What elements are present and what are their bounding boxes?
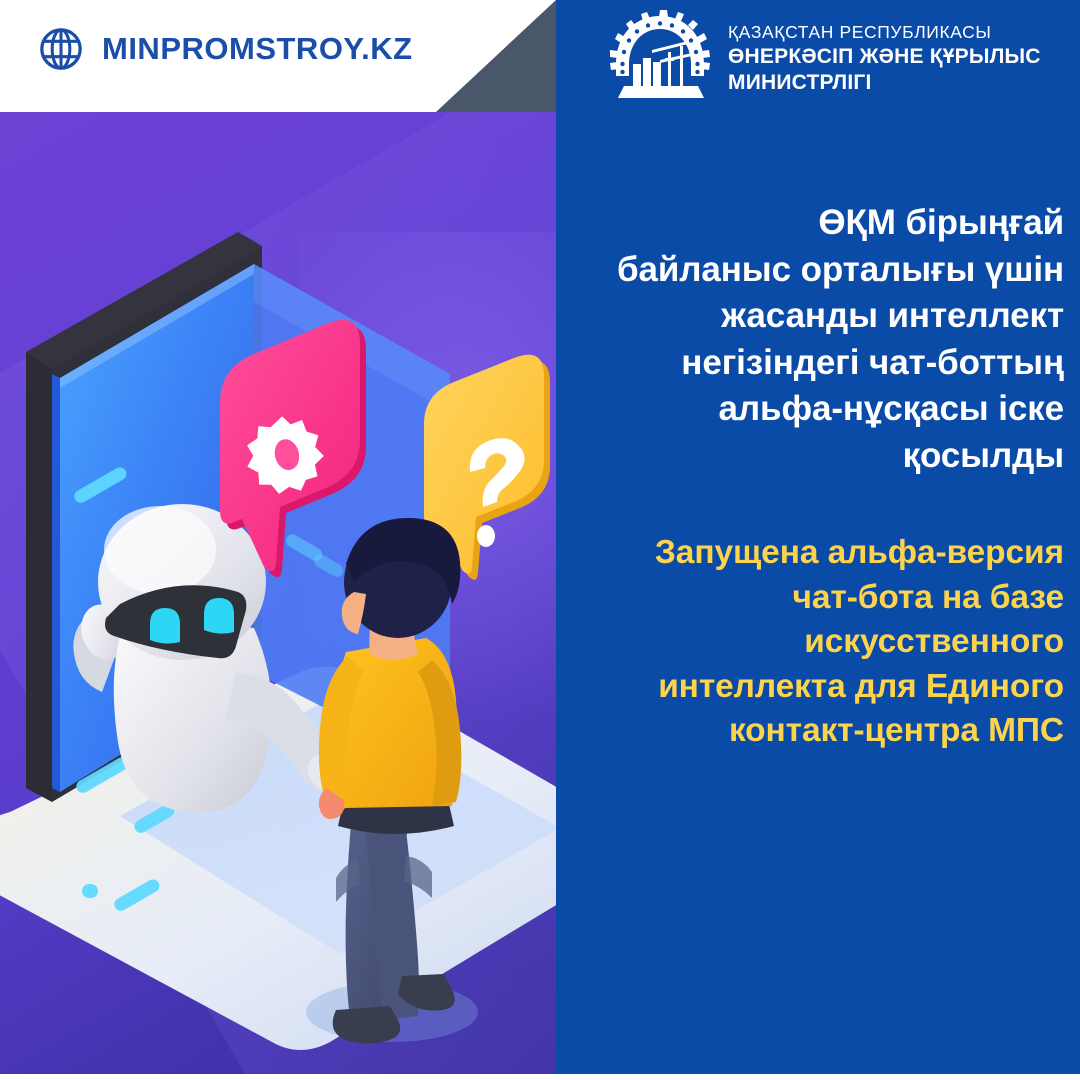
bottom-white-edge <box>0 1074 1080 1080</box>
poster-canvas: ӨҚМ бірыңғай байланыс орталығы үшін жаса… <box>0 0 1080 1080</box>
ministry-gear-arch-emblem-icon <box>608 8 712 104</box>
kazakh-line-1: ӨҚМ бірыңғай <box>572 200 1064 247</box>
russian-line-5: контакт-центра МПС <box>572 709 1064 754</box>
russian-line-2: чат-бота на базе <box>572 576 1064 621</box>
ministry-text: ҚАЗАҚСТАН РЕСПУБЛИКАСЫ ӨНЕРКӘСІП ЖӘНЕ ҚҰ… <box>728 16 1041 96</box>
kazakh-line-6: қосылды <box>572 433 1064 480</box>
poster-header: MINPROMSTROY.KZ <box>0 0 1080 112</box>
brand-label: MINPROMSTROY.KZ <box>102 26 413 72</box>
ministry-line-1: ҚАЗАҚСТАН РЕСПУБЛИКАСЫ <box>728 20 1041 44</box>
ministry-line-2: ӨНЕРКӘСІП ЖӘНЕ ҚҰРЫЛЫС <box>728 44 1041 70</box>
message-copy: ӨҚМ бірыңғай байланыс орталығы үшін жаса… <box>572 200 1064 754</box>
ministry-line-3: МИНИСТРЛІГІ <box>728 70 1041 96</box>
russian-message: Запущена альфа-версия чат-бота на базе и… <box>572 531 1064 754</box>
kazakh-line-3: жасанды интеллект <box>572 293 1064 340</box>
site-brand[interactable]: MINPROMSTROY.KZ <box>38 26 413 72</box>
message-spacer <box>572 479 1064 531</box>
globe-icon <box>38 26 84 72</box>
kazakh-line-5: альфа-нұсқасы іске <box>572 386 1064 433</box>
message-panel: ӨҚМ бірыңғай байланыс орталығы үшін жаса… <box>556 112 1080 1074</box>
kazakh-message: ӨҚМ бірыңғай байланыс орталығы үшін жаса… <box>572 200 1064 479</box>
kazakh-line-2: байланыс орталығы үшін <box>572 247 1064 294</box>
russian-line-4: интеллекта для Единого <box>572 665 1064 710</box>
russian-line-1: Запущена альфа-версия <box>572 531 1064 576</box>
russian-line-3: искусственного <box>572 620 1064 665</box>
ministry-lockup: ҚАЗАҚСТАН РЕСПУБЛИКАСЫ ӨНЕРКӘСІП ЖӘНЕ ҚҰ… <box>608 8 1041 104</box>
kazakh-line-4: негізіндегі чат-боттың <box>572 340 1064 387</box>
illustration-vector <box>0 112 556 1074</box>
chatbot-illustration <box>0 112 556 1074</box>
